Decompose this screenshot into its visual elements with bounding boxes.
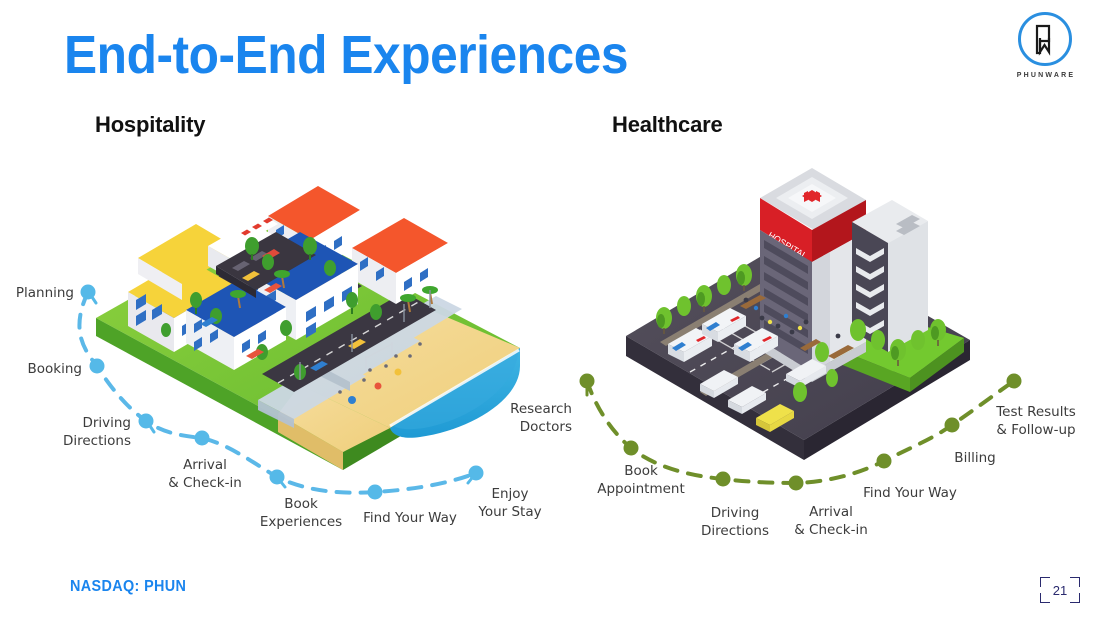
- page-number: 21: [1038, 575, 1082, 605]
- journey-step-label: Booking: [28, 360, 82, 378]
- hospital-sign-text: HOSPITAL: [766, 230, 809, 261]
- illustration-beach-resort: [96, 186, 520, 470]
- section-heading-hospitality: Hospitality: [95, 112, 205, 138]
- slide-canvas: End-to-End Experiences Hospitality Healt…: [0, 0, 1100, 619]
- journey-dots-hospitality: [81, 285, 484, 500]
- journey-dot[interactable]: [580, 374, 595, 396]
- journey-dot[interactable]: [139, 414, 155, 433]
- building-red-a: [268, 186, 360, 274]
- section-heading-healthcare: Healthcare: [612, 112, 723, 138]
- page-title: End-to-End Experiences: [64, 28, 628, 82]
- benches: [740, 295, 854, 359]
- hospital-annex: [852, 200, 928, 352]
- beach-props: [338, 342, 422, 404]
- building-blue-main: [238, 232, 358, 340]
- journey-dot[interactable]: [195, 431, 210, 446]
- parked-cars: [700, 359, 826, 432]
- journey-step-label: Arrival & Check-in: [794, 503, 868, 539]
- journey-step-label: Billing: [954, 449, 995, 467]
- vehicles-resort: [200, 283, 366, 371]
- journey-step-label: Test Results & Follow-up: [996, 403, 1076, 439]
- nasdaq-ticker: NASDAQ: PHUN: [70, 578, 186, 596]
- building-yellow: [128, 224, 240, 352]
- journey-step-label: Find Your Way: [363, 509, 457, 527]
- journey-dot[interactable]: [877, 454, 892, 469]
- building-red-b: [352, 218, 448, 304]
- journey-dot[interactable]: [81, 285, 97, 304]
- building-blue-low: [186, 280, 286, 370]
- phunware-logo: PHUNWARE: [1010, 10, 1082, 92]
- illustrations-layer: HOSPITAL: [0, 0, 1100, 619]
- journey-dot[interactable]: [716, 472, 731, 487]
- journey-step-label: Research Doctors: [510, 400, 572, 436]
- journey-step-label: Driving Directions: [701, 504, 769, 540]
- journey-dot[interactable]: [789, 476, 804, 491]
- journey-dot[interactable]: [270, 470, 286, 488]
- page-number-badge: 21: [1038, 575, 1082, 605]
- logo-wordmark: PHUNWARE: [1010, 72, 1082, 79]
- logo-monogram-icon: [1018, 12, 1072, 66]
- campus-trees: [656, 264, 946, 402]
- journey-dot[interactable]: [1007, 374, 1022, 389]
- journey-step-label: Arrival & Check-in: [168, 456, 242, 492]
- hospital-tower: HOSPITAL: [760, 168, 866, 382]
- journey-dot[interactable]: [90, 359, 105, 374]
- journey-step-label: Enjoy Your Stay: [478, 485, 541, 521]
- journey-dot[interactable]: [468, 466, 484, 484]
- journey-step-label: Driving Directions: [63, 414, 131, 450]
- ambulances: [668, 308, 778, 362]
- plaza-parking: [216, 232, 316, 298]
- people: [744, 298, 841, 339]
- journey-dot[interactable]: [368, 485, 383, 500]
- journey-dot[interactable]: [624, 441, 639, 456]
- vegetation: [161, 237, 438, 380]
- journey-path-hospitality: [79, 292, 476, 493]
- journey-step-label: Planning: [16, 284, 74, 302]
- journey-step-label: Book Appointment: [597, 462, 685, 498]
- illustration-hospital-campus: HOSPITAL: [626, 168, 970, 460]
- journey-step-label: Find Your Way: [863, 484, 957, 502]
- building-awning-shop: [208, 218, 282, 285]
- journey-dot[interactable]: [945, 418, 960, 433]
- journey-step-label: Book Experiences: [260, 495, 342, 531]
